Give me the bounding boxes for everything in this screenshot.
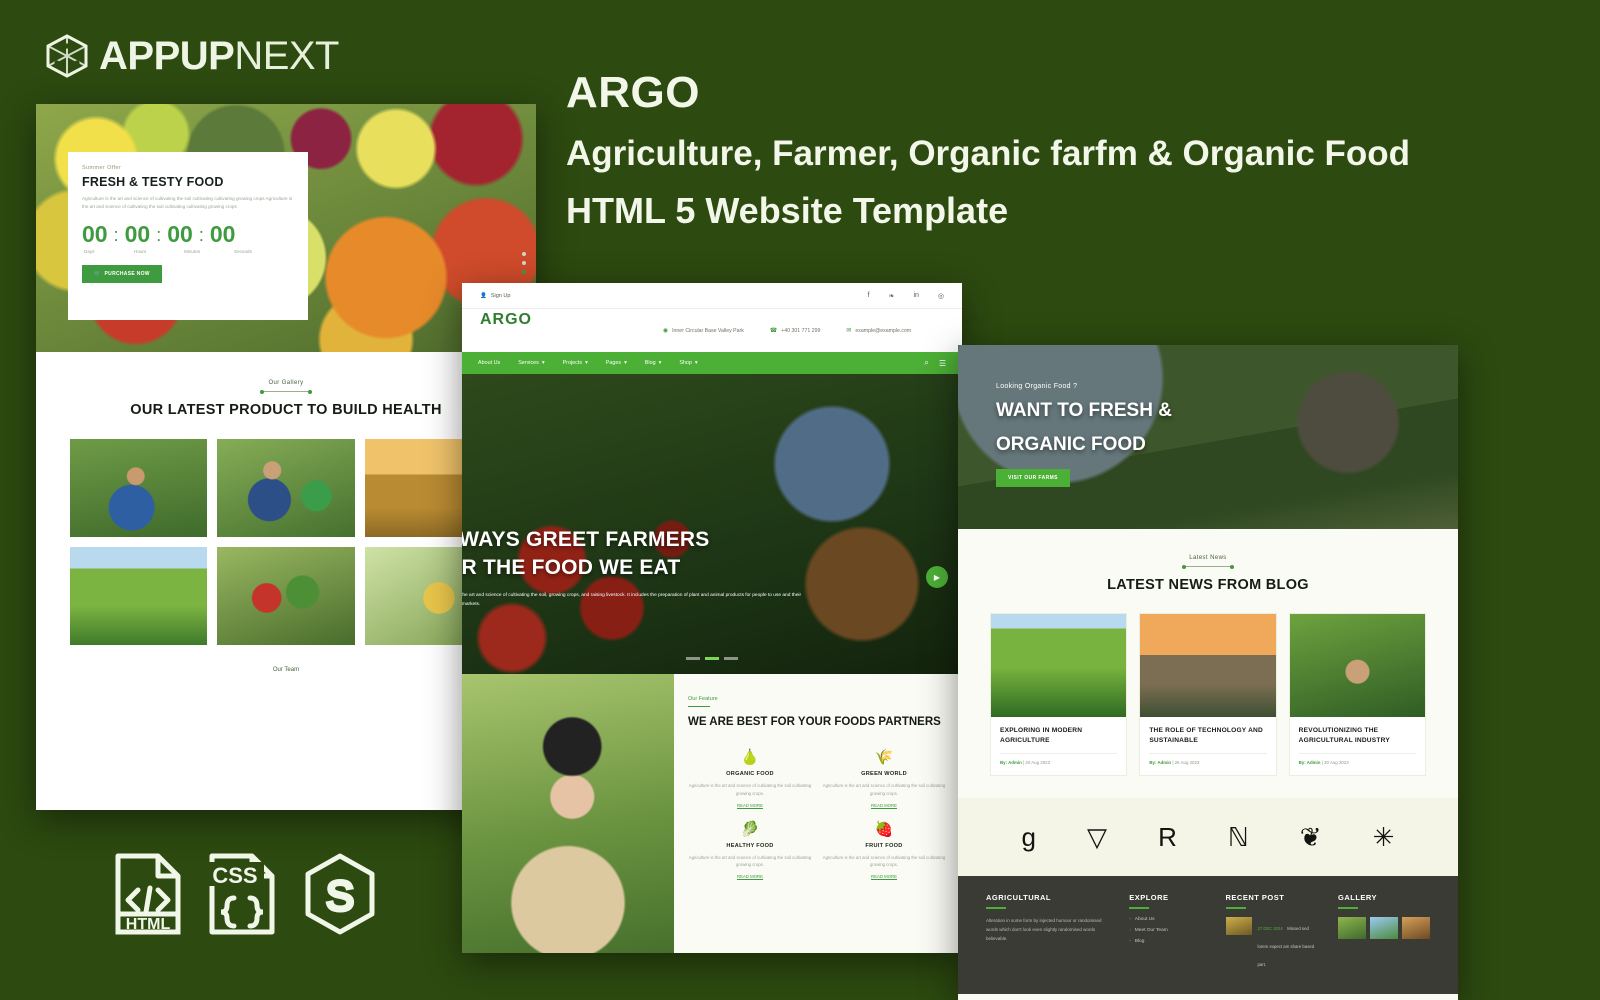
blog-card-title[interactable]: REVOLUTIONIZING THE AGRICULTURAL INDUSTR… — [1299, 726, 1416, 746]
blog-cards: EXPLORING IN MODERN AGRICULTURE By: Admi… — [990, 613, 1426, 776]
gallery-section: Our Gallery OUR LATEST PRODUCT TO BUILD … — [36, 352, 536, 673]
slider-dot-3[interactable] — [522, 270, 526, 274]
footer-underline — [1338, 907, 1358, 909]
footer-link-label: About Us — [1135, 917, 1155, 922]
hero-overlay — [462, 374, 962, 674]
offer-description: Agriculture is the art and science of cu… — [82, 195, 294, 211]
blog-image-tractor — [991, 614, 1126, 717]
blog-section: Latest News LATEST NEWS FROM BLOG EXPLOR… — [958, 529, 1458, 776]
gallery-image-1[interactable] — [70, 439, 207, 537]
chevron-down-icon: ▾ — [542, 360, 545, 366]
feature-cards: 🍐 ORGANIC FOOD Agriculture is the art an… — [688, 750, 946, 879]
feature-card-desc: Agriculture is the art and science of cu… — [688, 854, 812, 869]
countdown-hours: 00 — [125, 223, 151, 246]
location-pin-icon: ◉ — [663, 327, 668, 334]
offer-eyebrow: Summer Offer — [82, 165, 294, 171]
nav-item-projects[interactable]: Projects▾ — [563, 360, 588, 366]
headline-line-1: ARGO — [566, 68, 1576, 119]
feature-content: Our Feature WE ARE BEST FOR YOUR FOODS P… — [674, 674, 962, 953]
feature-section: Our Feature WE ARE BEST FOR YOUR FOODS P… — [462, 674, 962, 953]
html5-badge: HTML — [114, 852, 182, 936]
footer-about-text: Alteration in some form by injected humo… — [986, 917, 1107, 943]
feature-title: WE ARE BEST FOR YOUR FOODS PARTNERS — [688, 714, 946, 730]
countdown-labels: Days Hours Minutes Seconds — [82, 249, 294, 254]
blog-eyebrow: Latest News — [990, 555, 1426, 561]
contact-phone[interactable]: ☎ +40 301 771 299 — [770, 327, 821, 334]
nav-label-blog: Blog — [645, 360, 656, 366]
chevron-down-icon: ▾ — [695, 360, 698, 366]
blog-image-farmer — [1290, 614, 1425, 717]
hamburger-menu-icon[interactable]: ☰ — [939, 359, 946, 368]
feature-card-organic-food: 🍐 ORGANIC FOOD Agriculture is the art an… — [688, 750, 812, 807]
countdown-label-minutes: Minutes — [184, 249, 208, 254]
organic-food-hero: Looking Organic Food ? WANT TO FRESH & O… — [958, 345, 1458, 529]
hero-title-line-1: ALWAYS GREET FARMERS — [462, 526, 812, 554]
phone-icon: ☎ — [770, 327, 777, 334]
brand-name-light: NEXT — [234, 34, 339, 78]
hero-pager-dot-2[interactable] — [705, 657, 719, 660]
team-section: Our Team — [70, 667, 502, 673]
contact-email-text: example@example.com — [855, 328, 911, 334]
footer-link-meet-our-team[interactable]: ›Meet Our Team — [1129, 928, 1203, 933]
site-footer: AGRICULTURAL Alteration in some form by … — [958, 876, 1458, 994]
blog-card-body: THE ROLE OF TECHNOLOGY AND SUSTAINABLE B… — [1140, 717, 1275, 775]
gallery-title: OUR LATEST PRODUCT TO BUILD HEALTH — [70, 401, 502, 421]
contact-phone-text: +40 301 771 299 — [781, 328, 820, 334]
twitter-icon[interactable]: ❧ — [889, 292, 895, 300]
gallery-eyebrow: Our Gallery — [70, 380, 502, 386]
recent-post-date: 27 DEC 2024 — [1258, 926, 1283, 931]
team-eyebrow: Our Team — [70, 667, 502, 673]
blog-card-title[interactable]: EXPLORING IN MODERN AGRICULTURE — [1000, 726, 1117, 746]
countdown-timer: 00 : 00 : 00 : 00 — [82, 223, 294, 246]
blog-author: By: Admin — [1299, 760, 1321, 765]
contact-address-text: Inner Circular Base Valley Park — [672, 328, 744, 334]
social-links: f ❧ in ◎ — [868, 292, 944, 300]
cube-logo-icon — [44, 33, 90, 79]
facebook-icon[interactable]: f — [868, 292, 870, 300]
hero-pager-dot-1[interactable] — [686, 657, 700, 660]
strawberry-icon: 🍓 — [822, 822, 946, 837]
brand-logo-leaf[interactable]: ❦ — [1300, 824, 1322, 850]
feature-card-title: ORGANIC FOOD — [688, 771, 812, 777]
contact-bar: ◉ Inner Circular Base Valley Park ☎ +40 … — [462, 309, 962, 352]
offer-title: FRESH & TESTY FOOD — [82, 175, 294, 189]
blog-card-meta: By: Admin | 30 Aug 2023 — [1299, 753, 1416, 765]
nav-item-about-us[interactable]: About Us — [478, 360, 500, 366]
css3-badge: CSS — [208, 852, 276, 936]
topbar: 👤 Sign Up f ❧ in ◎ — [462, 283, 962, 309]
gallery-image-5[interactable] — [217, 547, 354, 645]
headline-line-2: Agriculture, Farmer, Organic farfm & Org… — [566, 133, 1576, 175]
countdown-sep-3: : — [199, 226, 204, 244]
feature-card-desc: Agriculture is the art and science of cu… — [822, 854, 946, 869]
footer-link-blog[interactable]: ›Blog — [1129, 939, 1203, 944]
blog-card[interactable]: REVOLUTIONIZING THE AGRICULTURAL INDUSTR… — [1289, 613, 1426, 776]
blog-card-body: REVOLUTIONIZING THE AGRICULTURAL INDUSTR… — [1290, 717, 1425, 775]
footer-heading: RECENT POST — [1226, 893, 1316, 902]
footer-column-recent-post: RECENT POST 27 DEC 2024 Missed sed lorem… — [1226, 893, 1316, 994]
hero-eyebrow: Looking Organic Food ? — [996, 383, 1172, 390]
headline-line-3: HTML 5 Website Template — [566, 189, 1576, 232]
feature-eyebrow: Our Feature — [688, 696, 946, 702]
play-button-icon[interactable]: ▶ — [926, 566, 948, 588]
blog-date: 20 Aug 2023 — [1025, 760, 1050, 765]
purchase-now-label: PURCHASE NOW — [105, 271, 150, 277]
footer-heading: EXPLORE — [1129, 893, 1203, 902]
read-more-link[interactable]: READ MORE — [822, 803, 946, 808]
footer-gallery-thumbs — [1338, 917, 1430, 939]
nav-actions: ⌕ ☰ — [924, 358, 946, 368]
middle-mockup-screenshot: 👤 Sign Up f ❧ in ◎ ◉ Inner Circular Base… — [462, 283, 962, 953]
blog-date: 26 Aug 2023 — [1175, 760, 1200, 765]
js-badge-label: S — [326, 872, 354, 919]
blog-card-body: EXPLORING IN MODERN AGRICULTURE By: Admi… — [991, 717, 1126, 775]
brand-logo-g[interactable]: g — [1022, 824, 1036, 850]
countdown-label-hours: Hours — [134, 249, 158, 254]
feature-card-title: FRUIT FOOD — [822, 843, 946, 849]
countdown-days: 00 — [82, 223, 108, 246]
offer-hero-section: Summer Offer FRESH & TESTY FOOD Agricult… — [36, 104, 536, 352]
blog-author: By: Admin — [1000, 760, 1022, 765]
instagram-icon[interactable]: ◎ — [938, 292, 944, 300]
right-mockup-screenshot: Looking Organic Food ? WANT TO FRESH & O… — [958, 345, 1458, 1000]
hero-text: Looking Organic Food ? WANT TO FRESH & O… — [996, 383, 1172, 487]
blog-card-title[interactable]: THE ROLE OF TECHNOLOGY AND SUSTAINABLE — [1149, 726, 1266, 746]
blog-image-sunset — [1140, 614, 1275, 717]
woman-with-strawberry-basket-image — [462, 674, 674, 953]
countdown-label-days: Days — [84, 249, 108, 254]
cart-icon: 🛒 — [94, 271, 101, 277]
gallery-thumb-3[interactable] — [1402, 917, 1430, 939]
linkedin-icon[interactable]: in — [913, 292, 918, 300]
blog-title: LATEST NEWS FROM BLOG — [990, 576, 1426, 596]
footer-heading: GALLERY — [1338, 893, 1430, 902]
footer-link-about-us[interactable]: ›About Us — [1129, 917, 1203, 922]
feature-card-healthy-food: 🥬 HEALTHY FOOD Agriculture is the art an… — [688, 822, 812, 879]
read-more-link[interactable]: READ MORE — [822, 874, 946, 879]
nav-item-pages[interactable]: Pages▾ — [606, 360, 627, 366]
sign-up-link[interactable]: 👤 Sign Up — [480, 293, 510, 299]
visit-our-farms-button[interactable]: VISIT OUR FARMS — [996, 469, 1070, 487]
javascript-badge: S — [302, 852, 378, 936]
hero-text: ALWAYS GREET FARMERS FOR THE FOOD WE EAT… — [462, 526, 812, 609]
recent-post-title: Missed sed lorem expect am share based p… — [1258, 926, 1315, 967]
chevron-right-icon: › — [1129, 939, 1131, 944]
footer-link-label: Blog — [1135, 939, 1145, 944]
nav-item-shop[interactable]: Shop▾ — [679, 360, 697, 366]
blog-card-meta: By: Admin | 26 Aug 2023 — [1149, 753, 1266, 765]
countdown-sep-2: : — [156, 226, 161, 244]
brand-logo-w-triangle[interactable]: ▽ — [1087, 824, 1107, 850]
footer-column-gallery: GALLERY — [1338, 893, 1430, 994]
blog-author: By: Admin — [1149, 760, 1171, 765]
hero-title-line-1: WANT TO FRESH & — [996, 398, 1172, 424]
countdown-minutes: 00 — [167, 223, 193, 246]
purchase-now-button[interactable]: 🛒 PURCHASE NOW — [82, 265, 162, 283]
footer-underline — [1226, 907, 1246, 909]
search-icon[interactable]: ⌕ — [924, 358, 928, 368]
brand-wordmark: APPUPNEXT — [99, 36, 339, 76]
main-navigation: About Us Services▾ Projects▾ Pages▾ Blog… — [462, 352, 962, 374]
hero-pager-dot-3[interactable] — [724, 657, 738, 660]
nav-label-projects: Projects — [563, 360, 582, 366]
plant-icon: 🌾 — [822, 750, 946, 765]
user-icon: 👤 — [480, 293, 487, 299]
blog-date: 30 Aug 2023 — [1324, 760, 1349, 765]
css-badge-label: CSS — [212, 863, 257, 888]
recent-post-thumbnail — [1226, 917, 1252, 935]
gallery-image-4[interactable] — [70, 547, 207, 645]
pear-icon: 🍐 — [688, 750, 812, 765]
gallery-thumb-2[interactable] — [1370, 917, 1398, 939]
slider-dot-2[interactable] — [522, 261, 526, 265]
sign-up-label: Sign Up — [491, 293, 511, 299]
nav-label-services: Services — [518, 360, 539, 366]
brand-logo-asterisk[interactable]: ✳ — [1373, 824, 1395, 850]
blog-card[interactable]: EXPLORING IN MODERN AGRICULTURE By: Admi… — [990, 613, 1127, 776]
hero-slider: ALWAYS GREET FARMERS FOR THE FOOD WE EAT… — [462, 374, 962, 674]
footer-heading: AGRICULTURAL — [986, 893, 1107, 902]
nav-item-services[interactable]: Services▾ — [518, 360, 544, 366]
gallery-grid — [70, 439, 502, 645]
feature-card-fruit-food: 🍓 FRUIT FOOD Agriculture is the art and … — [822, 822, 946, 879]
feature-card-title: HEALTHY FOOD — [688, 843, 812, 849]
gallery-image-2[interactable] — [217, 439, 354, 537]
gallery-divider — [262, 391, 310, 392]
chevron-down-icon: ▾ — [585, 360, 588, 366]
recent-post-text: 27 DEC 2024 Missed sed lorem expect am s… — [1258, 917, 1316, 971]
countdown-seconds: 00 — [210, 223, 236, 246]
summer-offer-card: Summer Offer FRESH & TESTY FOOD Agricult… — [68, 152, 308, 320]
email-icon: ✉ — [846, 327, 851, 334]
nav-label-about-us: About Us — [478, 360, 500, 366]
footer-underline — [1129, 907, 1149, 909]
blog-card-meta: By: Admin | 20 Aug 2023 — [1000, 753, 1117, 765]
footer-underline — [986, 907, 1006, 909]
blog-divider — [1184, 566, 1232, 567]
nav-label-pages: Pages — [606, 360, 621, 366]
contact-email[interactable]: ✉ example@example.com — [846, 327, 911, 334]
countdown-sep-1: : — [114, 226, 119, 244]
gallery-thumb-1[interactable] — [1338, 917, 1366, 939]
read-more-link[interactable]: READ MORE — [688, 803, 812, 808]
contact-address: ◉ Inner Circular Base Valley Park — [663, 327, 744, 334]
feature-card-green-world: 🌾 GREEN WORLD Agriculture is the art and… — [822, 750, 946, 807]
blog-card[interactable]: THE ROLE OF TECHNOLOGY AND SUSTAINABLE B… — [1139, 613, 1276, 776]
feature-card-desc: Agriculture is the art and science of cu… — [688, 782, 812, 797]
footer-link-label: Meet Our Team — [1135, 928, 1168, 933]
brand-name-bold: APPUP — [99, 34, 234, 78]
read-more-link[interactable]: READ MORE — [688, 874, 812, 879]
footer-column-agricultural: AGRICULTURAL Alteration in some form by … — [986, 893, 1107, 994]
recent-post-item[interactable]: 27 DEC 2024 Missed sed lorem expect am s… — [1226, 917, 1316, 971]
brand-logo-r[interactable]: R — [1158, 824, 1177, 850]
html-badge-label: HTML — [126, 916, 171, 933]
feature-card-desc: Agriculture is the art and science of cu… — [822, 782, 946, 797]
hero-title-line-2: FOR THE FOOD WE EAT — [462, 554, 812, 582]
hero-slider-pager[interactable] — [686, 657, 738, 660]
headline-block: ARGO Agriculture, Farmer, Organic farfm … — [566, 68, 1576, 232]
footer-column-explore: EXPLORE ›About Us ›Meet Our Team ›Blog — [1129, 893, 1203, 994]
chevron-right-icon: › — [1129, 917, 1131, 922]
brand-logos-row: g ▽ R ℕ ❦ ✳ — [958, 798, 1458, 876]
tech-badges: HTML CSS S — [114, 852, 378, 936]
chevron-down-icon: ▾ — [659, 360, 662, 366]
hero-title-line-2: ORGANIC FOOD — [996, 432, 1172, 458]
chevron-down-icon: ▾ — [624, 360, 627, 366]
countdown-label-seconds: Seconds — [234, 249, 258, 254]
nav-label-shop: Shop — [679, 360, 692, 366]
vegetables-icon: 🥬 — [688, 822, 812, 837]
brand-logo: APPUPNEXT — [44, 33, 339, 79]
nav-item-blog[interactable]: Blog▾ — [645, 360, 662, 366]
slider-dots[interactable] — [522, 252, 526, 274]
left-mockup-screenshot: Summer Offer FRESH & TESTY FOOD Agricult… — [36, 104, 536, 810]
brand-logo-n[interactable]: ℕ — [1228, 824, 1249, 850]
chevron-right-icon: › — [1129, 928, 1131, 933]
feature-card-title: GREEN WORLD — [822, 771, 946, 777]
slider-dot-1[interactable] — [522, 252, 526, 256]
site-brand-logo[interactable]: ARGO — [480, 311, 532, 329]
hero-paragraph: Agriculture is the art and science of cu… — [462, 591, 812, 609]
feature-divider — [688, 706, 710, 707]
